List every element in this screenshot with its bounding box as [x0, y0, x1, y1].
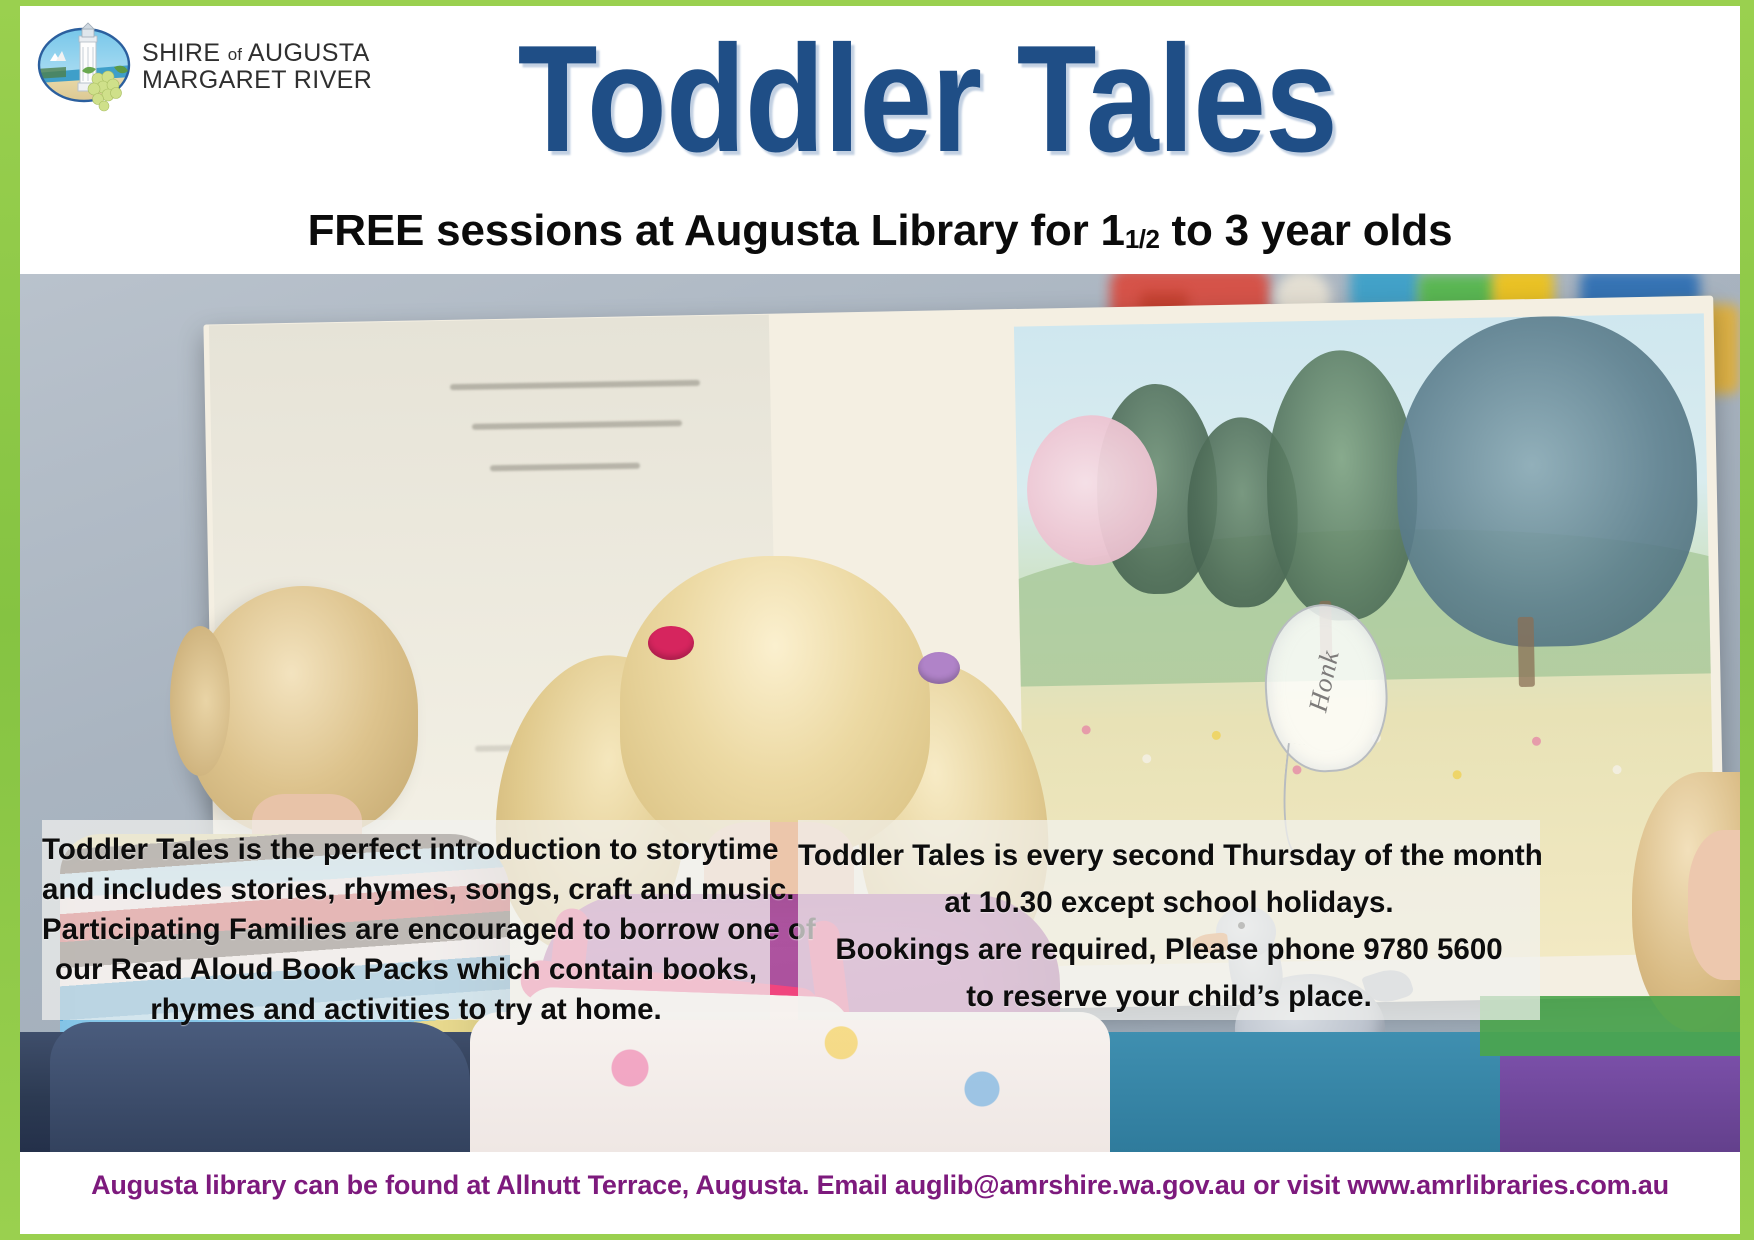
illustration-flower: [1142, 754, 1151, 763]
illustration-flower: [1453, 770, 1462, 779]
illustration-tree-large: [1394, 314, 1700, 650]
info-panel-left-line: Toddler Tales is the perfect introductio…: [42, 830, 770, 870]
hair-tie-purple: [918, 652, 960, 684]
footer-contact-text: Augusta library can be found at Allnutt …: [91, 1170, 1669, 1201]
child-boy-jeans: [50, 1022, 470, 1152]
illustration-tree-trunk: [1518, 617, 1535, 687]
subtitle-text-before: FREE sessions at Augusta Library for 1: [308, 206, 1125, 255]
child-third-face: [1688, 830, 1740, 980]
info-panel-left-line: and includes stories, rhymes, songs, cra…: [42, 870, 770, 910]
photo-floor-mat-purple: [1500, 1056, 1740, 1152]
poster-header: SHIRE of AUGUSTA MARGARET RIVER Toddler …: [20, 6, 1740, 274]
info-panel-left-line: rhymes and activities to try at home.: [42, 990, 770, 1030]
info-panel-left: Toddler Tales is the perfect introductio…: [42, 820, 770, 1020]
illustration-flower: [1532, 737, 1541, 746]
info-panel-right-line: at 10.30 except school holidays.: [798, 879, 1540, 926]
page-subtitle: FREE sessions at Augusta Library for 11/…: [20, 206, 1740, 256]
info-panel-left-line: our Read Aloud Book Packs which contain …: [42, 950, 770, 990]
illustration-flower: [1212, 731, 1221, 740]
info-panel-right-line: Bookings are required, Please phone 9780…: [798, 926, 1540, 973]
info-panel-left-line: Participating Families are encouraged to…: [42, 910, 770, 950]
illustration-flower: [1612, 765, 1621, 774]
poster-root: SHIRE of AUGUSTA MARGARET RIVER Toddler …: [0, 0, 1754, 1240]
poster-footer: Augusta library can be found at Allnutt …: [20, 1152, 1740, 1218]
subtitle-fraction: 1/2: [1125, 224, 1160, 254]
info-panel-right-line: Toddler Tales is every second Thursday o…: [798, 832, 1540, 879]
poster-sheet: SHIRE of AUGUSTA MARGARET RIVER Toddler …: [20, 6, 1740, 1234]
poster-photograph: Honk ducking was quite different. he did…: [20, 274, 1740, 1152]
info-panel-right: Toddler Tales is every second Thursday o…: [798, 820, 1540, 1020]
child-girl-skirt-hem: [470, 1012, 1110, 1152]
page-title: Toddler Tales: [140, 12, 1619, 187]
info-panel-right-line: to reserve your child’s place.: [798, 973, 1540, 1020]
shire-lighthouse-grapes-emblem-icon: [36, 21, 132, 113]
child-girl-hair: [620, 556, 930, 856]
illustration-flower: [1082, 725, 1091, 734]
subtitle-text-after: to 3 year olds: [1172, 206, 1453, 255]
hair-tie-pink: [648, 626, 694, 660]
